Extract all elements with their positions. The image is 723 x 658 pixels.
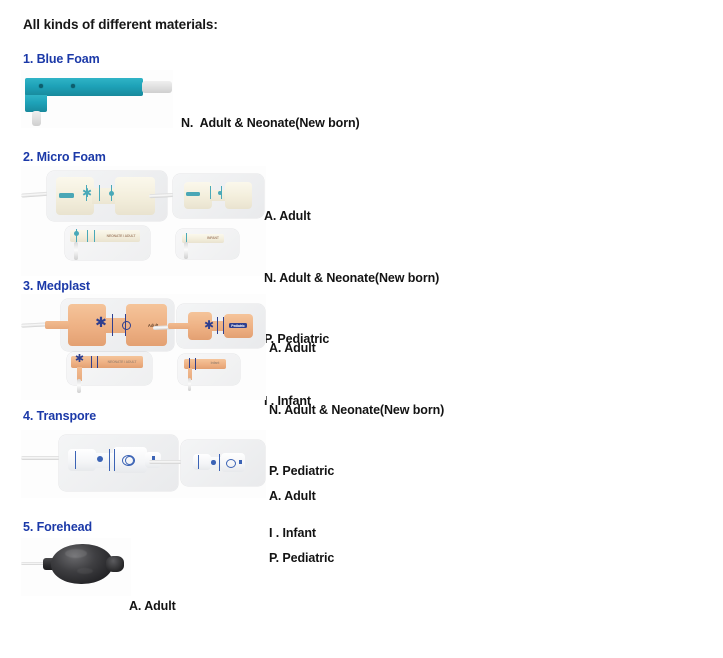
micro-foam-neonate-pad-right — [225, 182, 252, 209]
medplast-pediatric-label: Pediatric — [229, 323, 247, 328]
medplast-strip-mark-b — [97, 356, 98, 368]
medplast-strip-star: ✱ — [74, 354, 85, 365]
micro-foam-strip-mark-c — [94, 230, 95, 242]
product-photo-transpore — [21, 430, 266, 498]
medplast-infant-mark-b — [195, 358, 196, 370]
variant-list-forehead: A. Adult — [129, 555, 176, 658]
section-heading-forehead: 5. Forehead — [23, 520, 92, 534]
variant-item: A. Adult — [269, 486, 334, 507]
transpore-adult-mark-c — [114, 449, 115, 471]
variant-item: A. Adult — [129, 596, 176, 617]
variant-item: A. Adult — [269, 338, 444, 359]
micro-foam-adult-chip — [59, 193, 74, 198]
transpore-adult-emitter-dot — [97, 456, 103, 462]
medplast-pediatric-tail — [168, 323, 190, 329]
micro-foam-neonate-mark-a — [210, 186, 211, 199]
forehead-highlight-bottom — [77, 568, 93, 574]
medplast-adult-detector-ring — [122, 321, 131, 330]
section-heading-micro-foam: 2. Micro Foam — [23, 150, 106, 164]
variant-list-transpore: A. Adult P. Pediatric — [269, 445, 334, 609]
medplast-strip-mark-a — [91, 356, 92, 368]
micro-foam-infant-label: INFANT — [204, 235, 222, 241]
micro-foam-strip-mark-b — [87, 230, 88, 242]
transpore-pediatric-emitter-dot — [211, 460, 216, 465]
transpore-pediatric-detector-ring — [226, 459, 236, 468]
blue-foam-tip — [142, 81, 172, 93]
micro-foam-strip-dot — [74, 231, 79, 236]
variant-item: N. Adult & Neonate(New born) — [181, 113, 360, 134]
micro-foam-infant-cable — [184, 242, 188, 259]
medplast-infant-cable — [188, 378, 191, 391]
medplast-pediatric-mark-b — [223, 317, 224, 334]
medplast-infant-label: Infant — [206, 360, 224, 366]
medplast-strip-label: NEONATE / ADULT — [105, 358, 139, 365]
medplast-pediatric-mark-a — [217, 317, 218, 334]
micro-foam-neonate-chip — [186, 192, 200, 196]
medplast-infant-card: Infant — [178, 354, 240, 385]
micro-foam-adult-mark-a — [86, 185, 87, 201]
micro-foam-strip-cable — [74, 242, 78, 260]
forehead-nub — [106, 556, 124, 572]
variant-item: N. Adult & Neonate(New born) — [269, 400, 444, 421]
section-heading-medplast: 3. Medplast — [23, 279, 90, 293]
variant-item: N. Adult & Neonate(New born) — [264, 268, 439, 289]
blue-foam-emitter-dot — [39, 84, 43, 88]
micro-foam-adult-mark-b — [99, 185, 100, 201]
medplast-adult-tail — [45, 321, 69, 329]
product-photo-micro-foam: ✱ NEONATE / ADULT — [21, 166, 266, 276]
medplast-pediatric-card: ✱ Pediatric — [177, 304, 265, 348]
variant-item: A. Adult — [264, 206, 439, 227]
micro-foam-strip-label: NEONATE / ADULT — [105, 232, 137, 239]
section-heading-blue-foam: 1. Blue Foam — [23, 52, 100, 66]
micro-foam-infant-card: INFANT — [176, 229, 239, 259]
transpore-pediatric-mark-a — [198, 455, 199, 469]
blue-foam-stub — [32, 111, 41, 126]
medplast-neonate-adult-card: ✱ NEONATE / ADULT — [67, 352, 152, 385]
transpore-adult-detector-ring-inner — [125, 456, 134, 465]
transpore-pediatric-mark-c — [239, 460, 242, 464]
page-title: All kinds of different materials: — [23, 17, 218, 32]
product-photo-forehead — [21, 538, 131, 596]
forehead-highlight-top — [65, 549, 87, 558]
transpore-adult-mark-b — [109, 449, 110, 471]
product-photo-blue-foam — [21, 70, 173, 128]
blue-foam-detector-dot — [71, 84, 75, 88]
transpore-pediatric-mark-b — [219, 454, 220, 471]
transpore-adult-pad-left — [68, 449, 96, 471]
variant-item: P. Pediatric — [269, 548, 334, 569]
product-photo-medplast: ✱ Adult ✱ Pediatric ✱ NEONATE / ADULT — [21, 294, 266, 400]
medplast-strip-cable — [77, 379, 81, 393]
micro-foam-neonate-adult-card: NEONATE / ADULT — [65, 226, 150, 260]
micro-foam-neonate-card — [173, 174, 264, 218]
micro-foam-neonate-dot — [218, 191, 222, 195]
medplast-pediatric-emitter-star: ✱ — [203, 319, 215, 331]
micro-foam-adult-detector-dot — [109, 191, 114, 196]
medplast-adult-mark-a — [112, 314, 113, 336]
blue-foam-leg — [25, 95, 47, 112]
medplast-adult-emitter-star: ✱ — [94, 315, 108, 329]
transpore-pediatric-card — [181, 440, 265, 486]
section-heading-transpore: 4. Transpore — [23, 409, 96, 423]
transpore-adult-mark-a — [75, 451, 76, 469]
